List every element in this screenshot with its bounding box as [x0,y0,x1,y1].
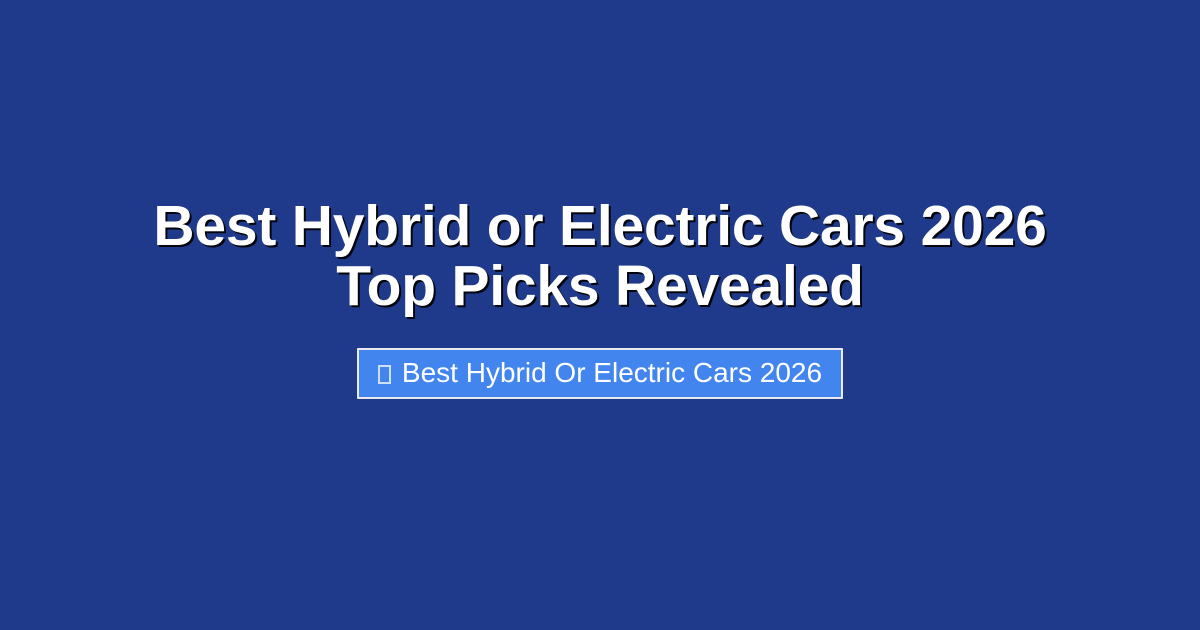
keyword-badge[interactable]: Best Hybrid Or Electric Cars 2026 [357,348,843,399]
missing-glyph-tofu-icon [378,365,391,384]
card-content-block: Best Hybrid or Electric Cars 2026 Top Pi… [0,196,1200,399]
badge-row: Best Hybrid Or Electric Cars 2026 [0,348,1200,399]
keyword-badge-label: Best Hybrid Or Electric Cars 2026 [402,359,822,387]
og-image-card: Best Hybrid or Electric Cars 2026 Top Pi… [0,0,1200,630]
page-title: Best Hybrid or Electric Cars 2026 Top Pi… [120,196,1080,317]
